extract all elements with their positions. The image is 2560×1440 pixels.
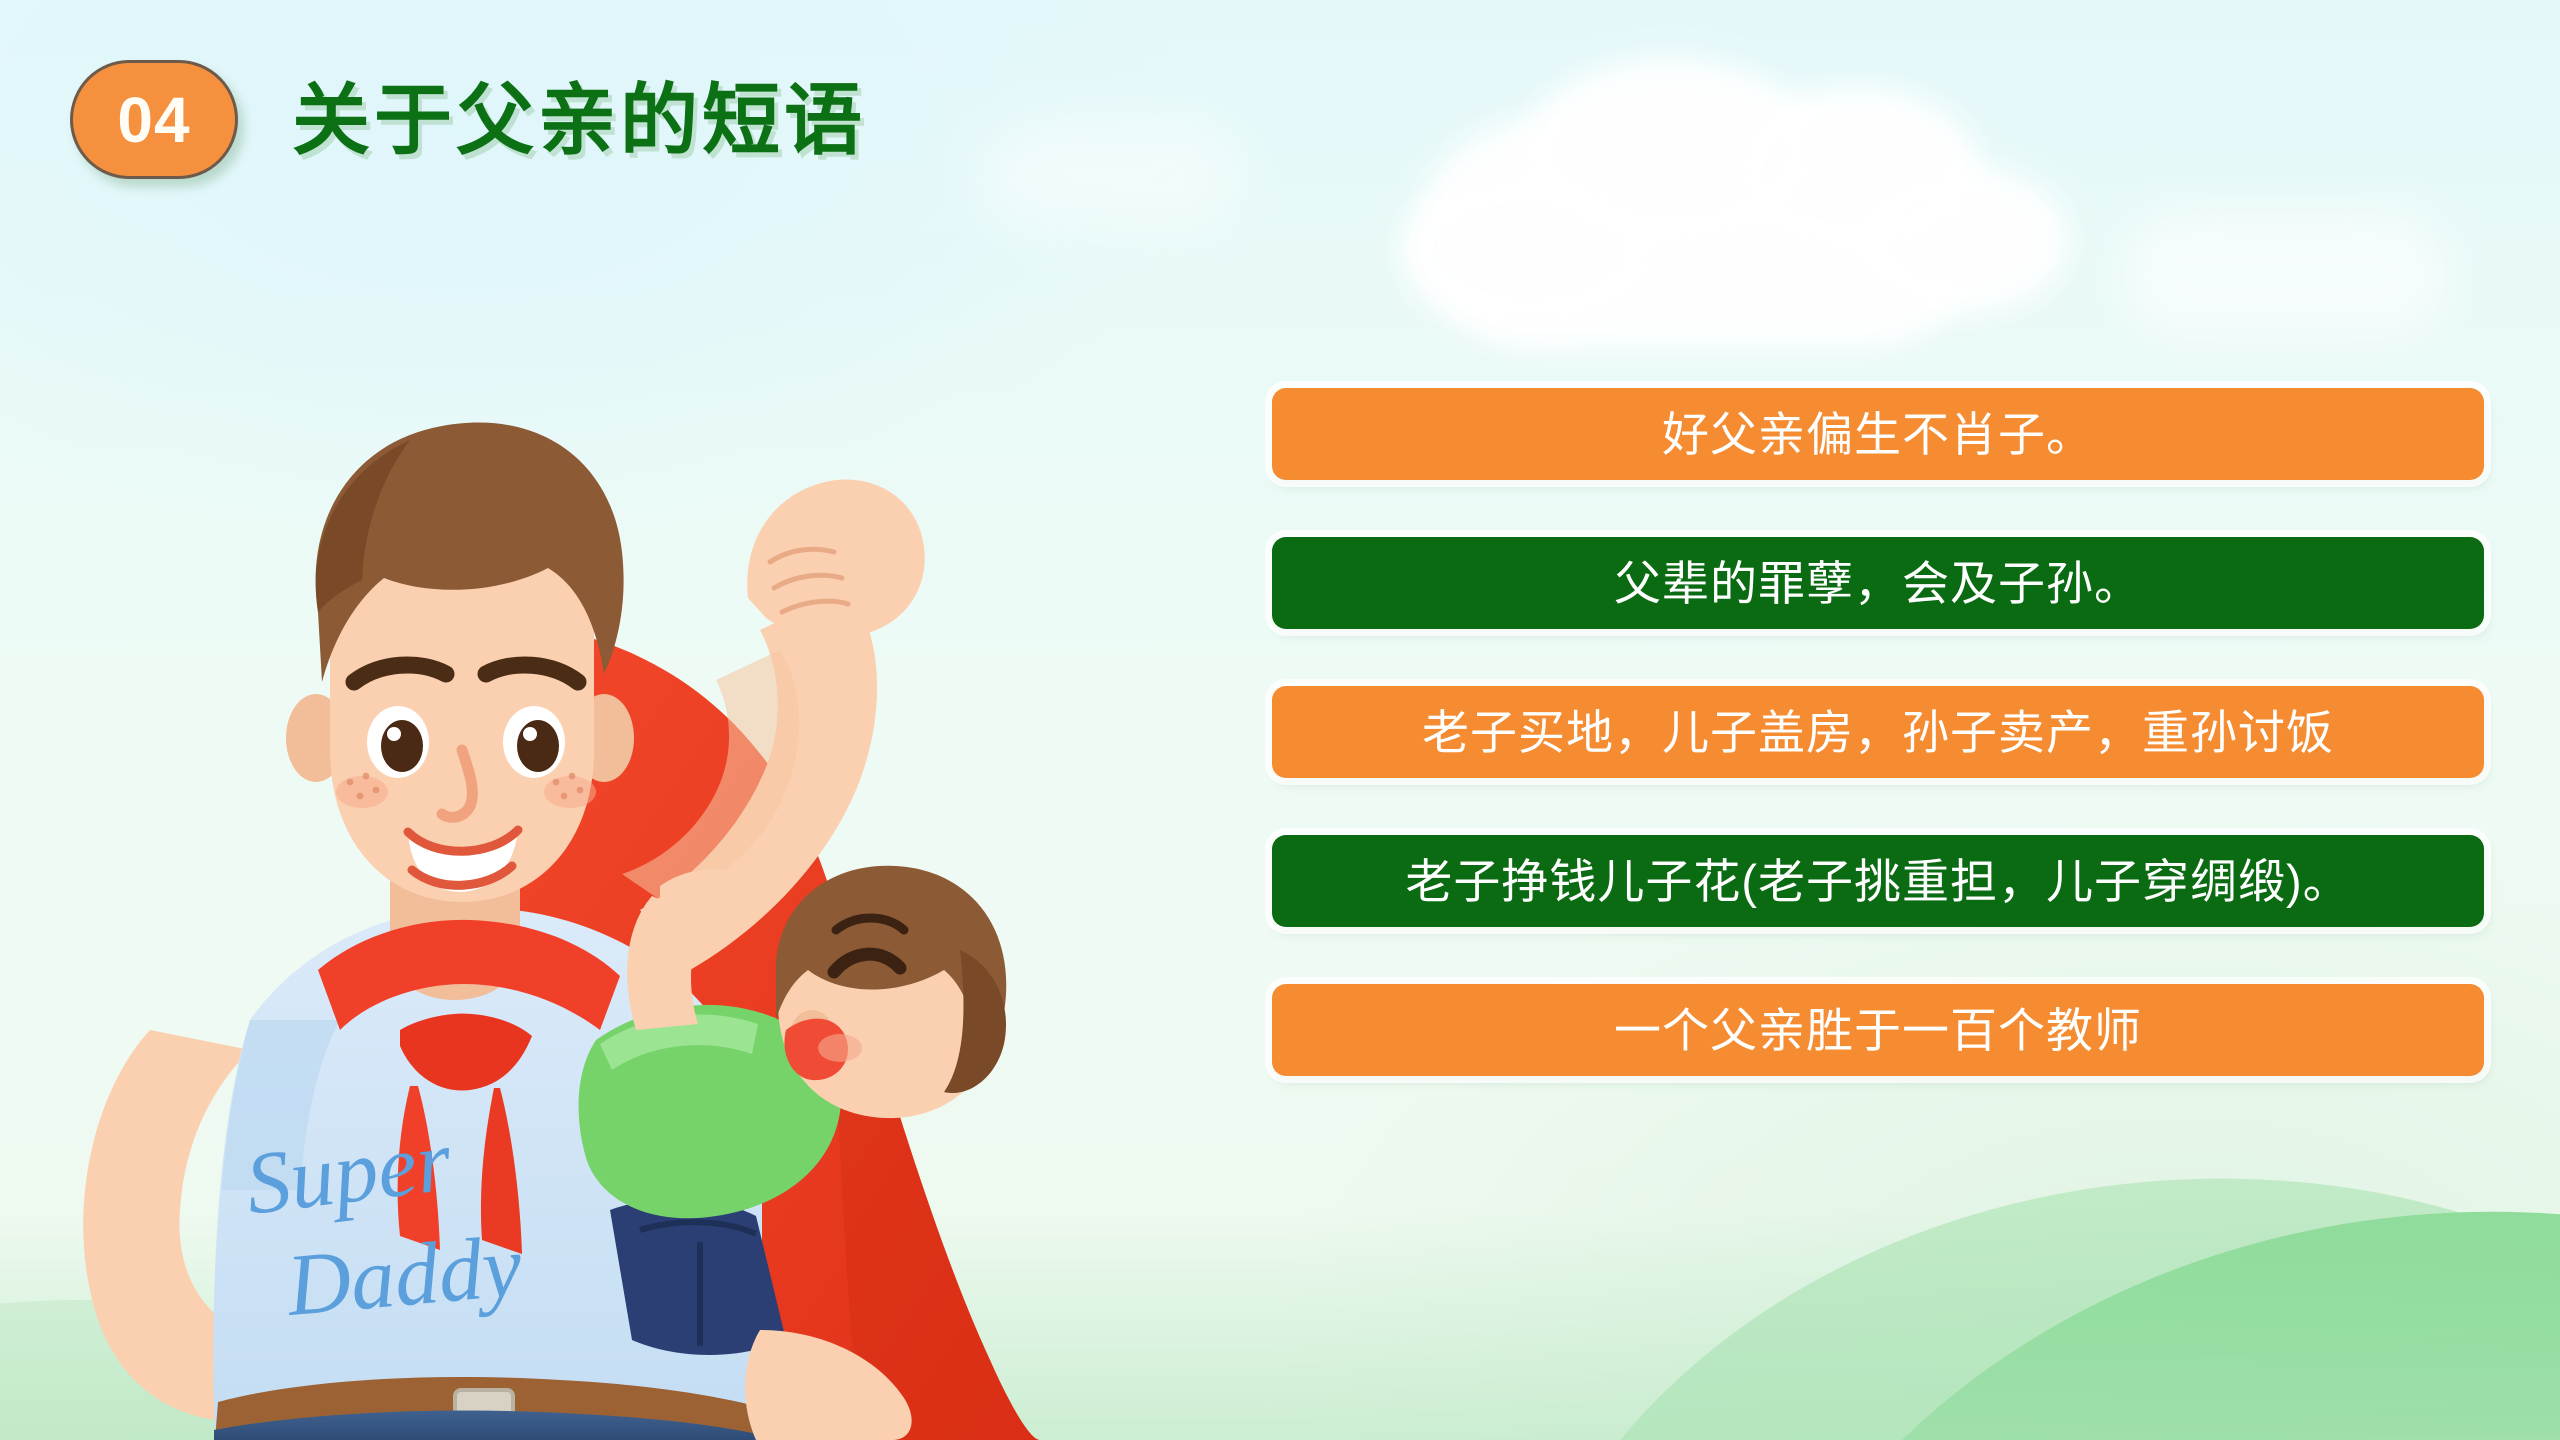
phrase-text-4: 老子挣钱儿子花(老子挑重担，儿子穿绸缎)。 [1405,858,2350,905]
phrase-text-1: 好父亲偏生不肖子。 [1662,411,2094,458]
slide-header: 04 关于父亲的短语 [70,60,866,179]
phrase-text-2: 父辈的罪孽，会及子孙。 [1614,560,2142,607]
father-cheek-left [336,776,388,808]
phrase-list: 好父亲偏生不肖子。 父辈的罪孽，会及子孙。 老子买地，儿子盖房，孙子卖产，重孙讨… [1272,388,2484,1076]
child-cheek [818,1034,862,1062]
father-and-child-illustration: Super Daddy [0,330,1320,1440]
cloud-faint-icon [980,120,1240,230]
page-title: 关于父亲的短语 [292,81,866,159]
phrase-text-3: 老子买地，儿子盖房，孙子卖产，重孙讨饭 [1422,709,2334,756]
cloud-puff-icon [1850,165,2070,315]
section-number-label: 04 [117,88,190,152]
phrase-banner-1[interactable]: 好父亲偏生不肖子。 [1272,388,2484,480]
slide-root: 04 关于父亲的短语 [0,0,2560,1440]
father-eye-highlight-left [387,727,401,741]
section-number-badge: 04 [70,60,238,179]
cloud-puff-icon [1400,170,1660,330]
phrase-banner-2[interactable]: 父辈的罪孽，会及子孙。 [1272,537,2484,629]
shirt-text-daddy: Daddy [282,1218,526,1335]
father-pupil-left [381,720,423,772]
father-eye-highlight-right [523,727,537,741]
phrase-banner-5[interactable]: 一个父亲胜于一百个教师 [1272,984,2484,1076]
phrase-banner-4[interactable]: 老子挣钱儿子花(老子挑重担，儿子穿绸缎)。 [1272,835,2484,927]
father-pupil-right [517,720,559,772]
cloud-faint-icon [2120,210,2450,340]
phrase-banner-3[interactable]: 老子买地，儿子盖房，孙子卖产，重孙讨饭 [1272,686,2484,778]
father-cheek-right [544,776,596,808]
phrase-text-5: 一个父亲胜于一百个教师 [1614,1007,2142,1054]
